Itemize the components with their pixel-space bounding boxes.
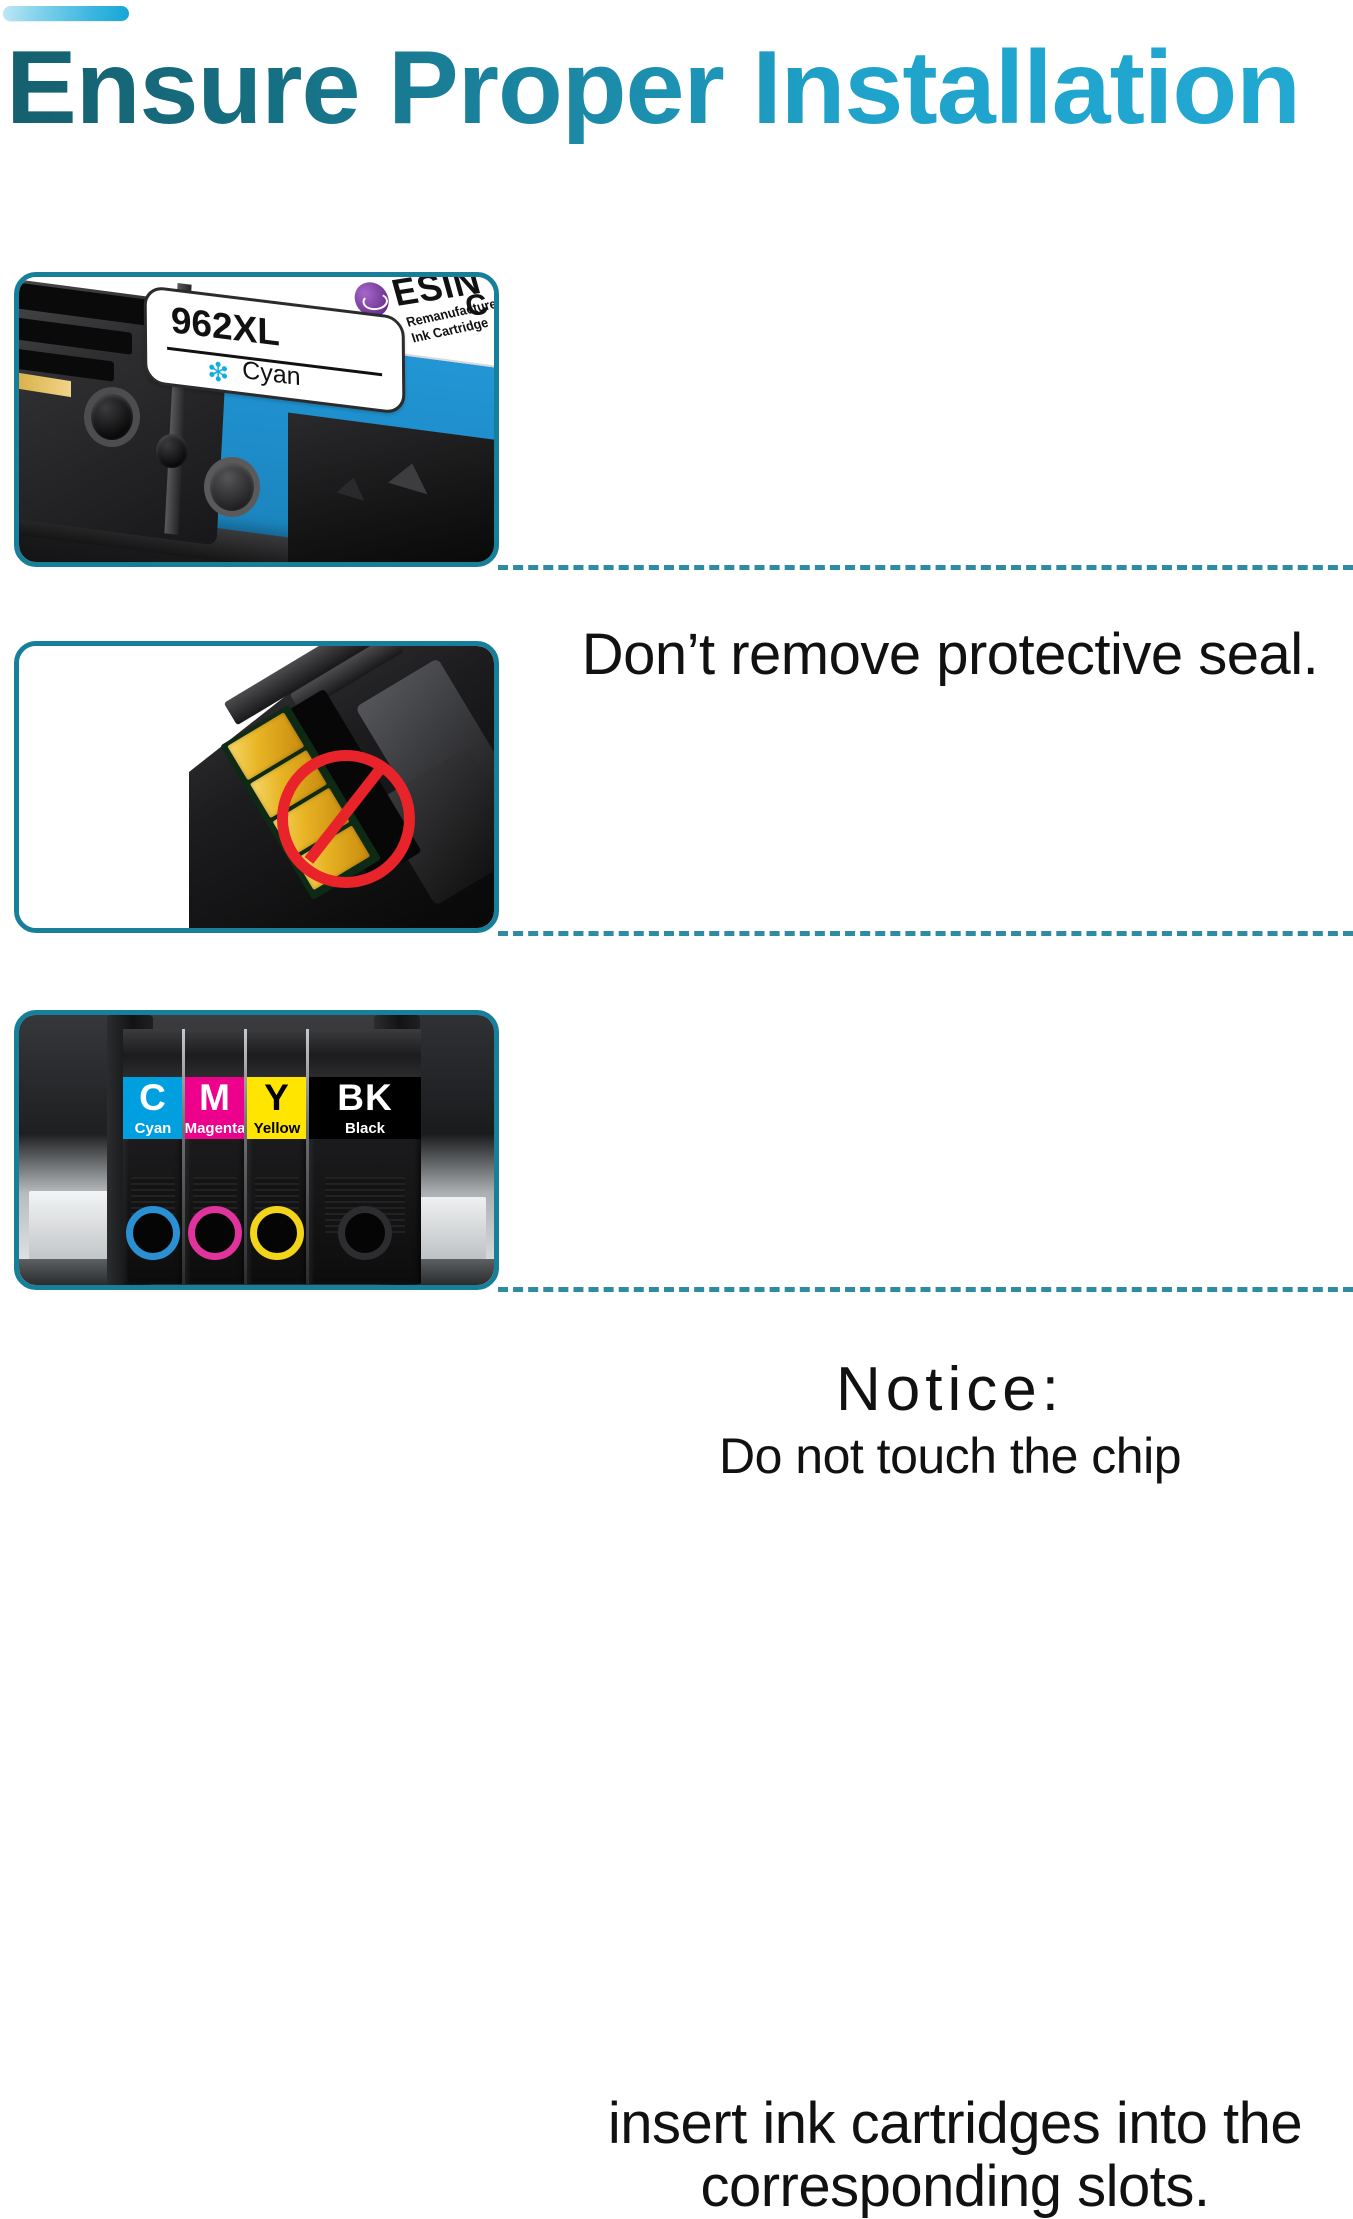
- printer-slots-photo: CCyanMMagentaYYellowBKBlack: [14, 1010, 499, 1290]
- cartridge-color-tag: YYellow: [247, 1077, 307, 1139]
- row-divider-1: [498, 565, 1353, 570]
- cartridge-port-hole: [156, 434, 188, 468]
- cyan-ink-cartridge-photo: ESIN Remanufactured Ink Cartridge C 962X…: [14, 272, 499, 567]
- caption-notice-title: Notice:: [560, 1357, 1340, 1424]
- photo-inner: CCyanMMagentaYYellowBKBlack: [19, 1015, 494, 1285]
- instruction-row-seal: ESIN Remanufactured Ink Cartridge C 962X…: [0, 272, 1353, 567]
- cartridge-color-label: Cyan: [135, 1120, 172, 1137]
- cartridge-color-code: M: [199, 1079, 231, 1116]
- cartridge-chip-photo: [14, 641, 499, 933]
- photo-inner: ESIN Remanufactured Ink Cartridge C 962X…: [19, 277, 494, 562]
- cartridge-port-hole: [84, 387, 140, 447]
- cartridge-color-label: Yellow: [254, 1120, 301, 1137]
- photo-inner: [19, 646, 494, 928]
- cartridge-color-label: Magenta: [185, 1120, 246, 1137]
- page-title: Ensure Proper Installation: [6, 32, 1353, 144]
- cartridge-color-tag: MMagenta: [185, 1077, 245, 1139]
- cartridge-color-code: BK: [337, 1079, 392, 1116]
- cartridge-cap: [123, 1029, 183, 1077]
- cartridge-slot-yellow[interactable]: YYellow: [247, 1029, 307, 1284]
- row-divider-2: [498, 931, 1353, 936]
- cartridge-right-shell: [288, 413, 494, 562]
- cartridge-slot-magenta[interactable]: MMagenta: [185, 1029, 245, 1284]
- caption-notice-subtitle: Do not touch the chip: [560, 1429, 1340, 1483]
- cartridge-port-hole: [204, 457, 260, 517]
- instruction-row-chip: Notice: Do not touch the chip: [0, 641, 1353, 933]
- cartridge-model-number: 962XL: [171, 299, 280, 354]
- cartridge-cap: [247, 1029, 307, 1077]
- printer-tray-left: [29, 1191, 113, 1259]
- cartridge-color-tag: BKBlack: [309, 1077, 421, 1139]
- cartridge-ink-port-ring: [250, 1206, 304, 1260]
- instruction-row-slots: CCyanMMagentaYYellowBKBlack insert ink c…: [0, 1010, 1353, 1290]
- row-divider-3: [498, 1287, 1353, 1292]
- cartridge-color-code: Y: [264, 1079, 290, 1116]
- cartridge-cap: [309, 1029, 421, 1077]
- caption-insert-cartridges: insert ink cartridges into the correspon…: [560, 2093, 1350, 2218]
- cartridge-color-label: Black: [345, 1120, 385, 1137]
- cartridge-ink-port-ring: [126, 1206, 180, 1260]
- cartridge-ink-port-ring: [188, 1206, 242, 1260]
- asterisk-icon: ❇: [207, 356, 229, 390]
- cartridge-color-tag: CCyan: [123, 1077, 183, 1139]
- accent-bar: [3, 6, 129, 21]
- cartridge-color-name: Cyan: [242, 356, 301, 392]
- no-entry-icon: [277, 750, 415, 888]
- cartridge-cap: [185, 1029, 245, 1077]
- cartridge-color-code: C: [139, 1079, 167, 1116]
- cartridge-slot-cyan[interactable]: CCyan: [123, 1029, 183, 1284]
- cartridge-slot-black[interactable]: BKBlack: [309, 1029, 421, 1284]
- cartridge-ink-port-ring: [338, 1206, 392, 1260]
